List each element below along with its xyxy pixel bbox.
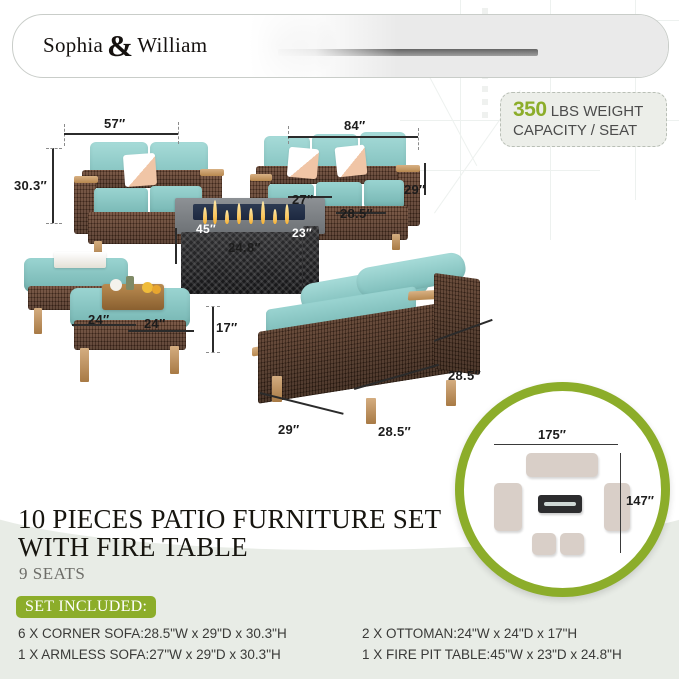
dim-ottoman-height: 17″	[216, 320, 238, 335]
dim-bottom-sofa-width-b: 28.5″	[448, 368, 481, 383]
furniture-illustration	[0, 80, 500, 470]
layout-width-label: 175″	[538, 427, 566, 442]
brand-name-second: William	[137, 33, 207, 57]
dim-armless-width: 27″	[292, 192, 314, 207]
dim-loveseat-width: 57″	[104, 116, 126, 131]
dim-loveseat-height: 30.3″	[14, 178, 47, 193]
dim-ottoman-width-b: 24″	[144, 316, 166, 331]
weight-value: 350	[513, 98, 547, 121]
brand-name-first: Sophia	[43, 33, 103, 57]
ottoman-front	[66, 288, 194, 398]
brand-logo: Sophia&William	[43, 28, 207, 64]
dim-ottoman-width-a: 24″	[88, 312, 110, 327]
dim-firetable-width: 45″	[196, 222, 216, 236]
weight-badge-line-1: 350 LBS WEIGHT	[513, 100, 666, 121]
layout-ottoman-left	[532, 533, 556, 555]
spec-list-left: 6 X CORNER SOFA:28.5"W x 29"D x 30.3"H 1…	[18, 623, 358, 665]
seat-count-subtitle: 9 SEATS	[19, 564, 85, 584]
product-title: 10 PIECES PATIO FURNITURE SET WITH FIRE …	[18, 505, 448, 561]
layout-sofa-top	[526, 453, 598, 477]
ampersand-glyph: &	[107, 28, 133, 63]
dim-bottom-sofa-depth: 29″	[278, 422, 300, 437]
spec-item: 2 X OTTOMAN:24"W x 24"D x 17"H	[362, 623, 679, 644]
dim-firetable-height: 24.8″	[228, 240, 261, 255]
spec-item: 1 X ARMLESS SOFA:27"W x 29"D x 30.3"H	[18, 644, 358, 665]
dim-bottom-sofa-width-a: 28.5″	[378, 424, 411, 439]
set-included-badge: SET INCLUDED:	[16, 596, 156, 618]
layout-ottoman-right	[560, 533, 584, 555]
spec-item: 1 X FIRE PIT TABLE:45"W x 23"D x 24.8"H	[362, 644, 679, 665]
craftsmanship-photo	[248, 15, 668, 77]
layout-depth-label: 147″	[626, 493, 654, 508]
spec-list-right: 2 X OTTOMAN:24"W x 24"D x 17"H 1 X FIRE …	[362, 623, 679, 665]
spec-item: 6 X CORNER SOFA:28.5"W x 29"D x 30.3"H	[18, 623, 358, 644]
dim-corner-width: 28.5″	[340, 206, 373, 221]
brand-header-banner: Sophia&William	[12, 14, 669, 78]
dim-firetable-depth: 23″	[292, 226, 312, 240]
layout-sofa-left	[494, 483, 522, 531]
infographic-canvas: Sophia&William 350 LBS WEIGHT CAPACITY /…	[0, 0, 679, 679]
layout-fire-table	[538, 495, 582, 513]
workbench-plank	[278, 49, 538, 56]
dim-sofa-width: 84″	[344, 118, 366, 133]
product-title-line-1: 10 PIECES PATIO FURNITURE SET	[18, 504, 441, 534]
product-title-line-2: WITH FIRE TABLE	[18, 532, 248, 562]
weight-unit-label: LBS WEIGHT	[547, 103, 644, 120]
layout-diagram-circle: 175″ 147″	[455, 382, 670, 597]
weight-badge-line-2: CAPACITY / SEAT	[513, 121, 666, 140]
weight-capacity-badge: 350 LBS WEIGHT CAPACITY / SEAT	[500, 92, 667, 147]
dim-sofa-depth: 29″	[404, 182, 426, 197]
